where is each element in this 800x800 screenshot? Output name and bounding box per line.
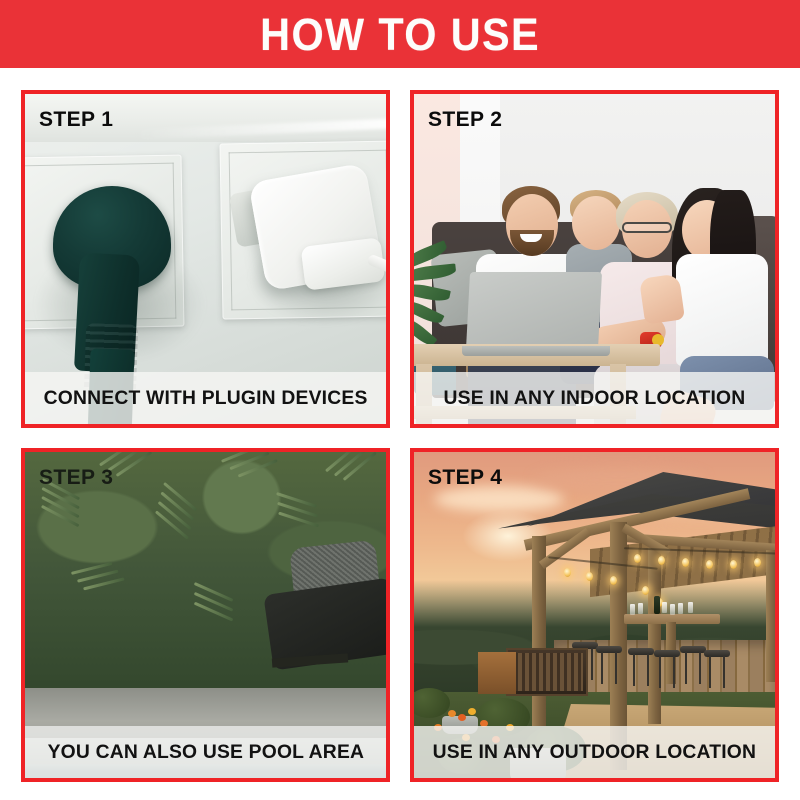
string-light-bulb: [754, 558, 761, 567]
step-panel-2[interactable]: STEP 2 USE IN ANY INDOOR LOCATION: [410, 90, 779, 428]
bar-stool: [628, 648, 654, 686]
caption-text-1: CONNECT WITH PLUGIN DEVICES: [44, 387, 368, 410]
string-light-bulb: [610, 576, 617, 585]
header-banner: HOW TO USE: [0, 0, 800, 68]
caption-text-3: YOU CAN ALSO USE POOL AREA: [47, 741, 364, 764]
bar-stool: [654, 650, 680, 688]
bar-stool: [680, 646, 706, 684]
step-panel-1[interactable]: STEP 1 CONNECT WITH PLUGIN DEVICES: [21, 90, 390, 428]
laptop-screen: [466, 272, 602, 350]
caption-band-2: USE IN ANY INDOOR LOCATION: [414, 372, 775, 424]
how-to-use-infographic: HOW TO USE: [0, 0, 800, 800]
step-label-3: STEP 3: [39, 466, 113, 490]
step-label-4: STEP 4: [428, 466, 502, 490]
string-light-bulb: [564, 568, 571, 577]
step-panel-3[interactable]: STEP 3 YOU CAN ALSO USE POOL AREA: [21, 448, 390, 782]
steps-grid: STEP 1 CONNECT WITH PLUGIN DEVICES: [21, 90, 779, 782]
wood-store: [506, 648, 588, 696]
bar-stool: [704, 650, 730, 688]
garden-shed: [478, 652, 516, 694]
string-light-bulb: [706, 560, 713, 569]
caption-band-3: YOU CAN ALSO USE POOL AREA: [25, 726, 386, 778]
string-light-bulb: [586, 572, 593, 581]
bar-stool: [596, 646, 622, 684]
string-light-bulb: [730, 560, 737, 569]
caption-band-1: CONNECT WITH PLUGIN DEVICES: [25, 372, 386, 424]
step-panel-4[interactable]: STEP 4 USE IN ANY OUTDOOR LOCATION: [410, 448, 779, 782]
string-light-bulb: [682, 558, 689, 567]
string-light-bulb: [642, 586, 649, 595]
caption-band-4: USE IN ANY OUTDOOR LOCATION: [414, 726, 775, 778]
string-light-bulb: [658, 556, 665, 565]
caption-text-2: USE IN ANY INDOOR LOCATION: [444, 387, 746, 410]
page-title: HOW TO USE: [260, 12, 540, 57]
bottle: [654, 596, 660, 614]
string-light-bulb: [634, 554, 641, 563]
step-label-2: STEP 2: [428, 108, 502, 132]
step-label-1: STEP 1: [39, 108, 113, 132]
caption-text-4: USE IN ANY OUTDOOR LOCATION: [433, 741, 757, 764]
